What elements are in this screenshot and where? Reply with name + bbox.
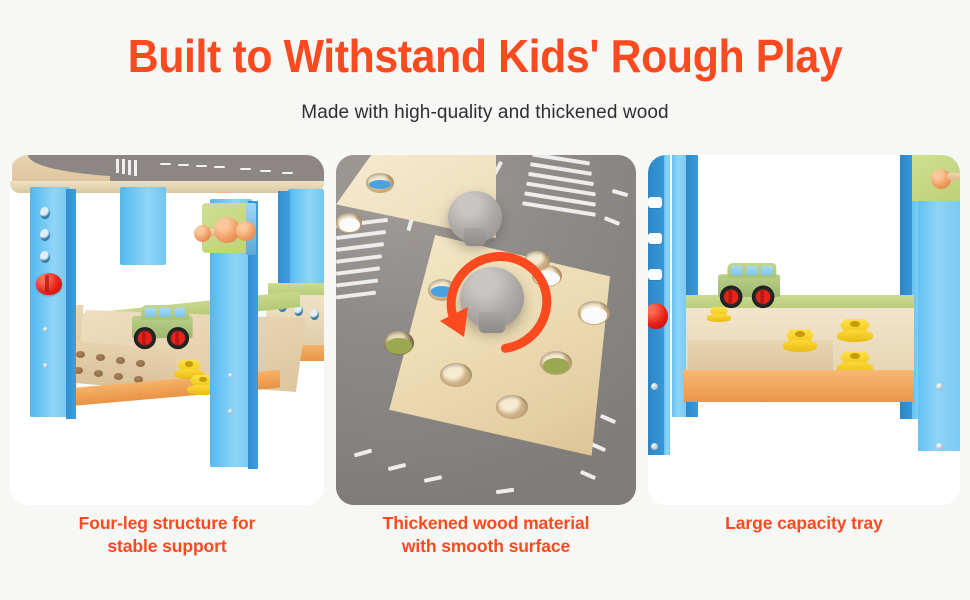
van-window: [731, 266, 742, 275]
feature-caption-row: Four-leg structure for stable support Th…: [10, 512, 960, 582]
van-window: [174, 308, 185, 317]
nut-hole: [795, 331, 805, 338]
wood-hole: [384, 331, 414, 355]
wood-hole: [578, 301, 610, 325]
toy-nut-yellow: [840, 319, 870, 341]
pegboard-hole: [136, 360, 145, 367]
van-window: [746, 266, 757, 275]
caption-thickened-wood: Thickened wood material with smooth surf…: [336, 512, 636, 582]
leg-adjust-hole: [648, 269, 662, 280]
crosswalk-stripe: [128, 160, 131, 175]
workbench-leg-front-left-side: [66, 189, 76, 419]
workbench-leg-rear: [120, 187, 166, 265]
wood-hole: [440, 363, 472, 387]
workbench-four-leg-photo: [10, 155, 324, 505]
wood-hole: [496, 395, 528, 419]
caption-line-1: Four-leg structure for: [10, 512, 324, 535]
van-window: [145, 308, 156, 317]
vise-knob-ball-left: [194, 225, 211, 242]
van-wheel: [752, 286, 775, 309]
panel-large-tray: [648, 155, 960, 505]
caption-line-2: with smooth surface: [336, 535, 636, 558]
pegboard-hole: [94, 370, 103, 377]
pegboard-hole: [730, 345, 740, 352]
thickened-wood-photo: [336, 155, 636, 505]
large-tray-photo: [648, 155, 960, 505]
feature-panel-row: [10, 155, 960, 505]
leg-adjust-hole: [310, 309, 319, 320]
road-dash: [240, 168, 251, 170]
vise-knob-ball-right: [236, 221, 256, 241]
pegboard-hole: [96, 354, 105, 361]
caption-line-1: Thickened wood material: [336, 512, 636, 535]
caption-large-tray: Large capacity tray: [648, 512, 960, 582]
leg-screw: [228, 373, 233, 378]
pegboard-hole: [76, 351, 85, 358]
toy-nut-yellow: [710, 307, 728, 321]
leg-screw: [43, 363, 48, 368]
road-dash: [282, 172, 293, 174]
page-title: Built to Withstand Kids' Rough Play: [34, 31, 936, 81]
pegboard-hole: [796, 361, 806, 368]
red-adjust-knob: [36, 273, 62, 295]
van-wheel: [720, 286, 743, 309]
caption-line-1: Large capacity tray: [648, 512, 960, 535]
pegboard-hole: [762, 361, 772, 368]
nut-hole: [185, 361, 193, 366]
pegboard-hole: [696, 345, 706, 352]
rotate-arrow-icon: [428, 233, 576, 365]
page-subtitle: Made with high-quality and thickened woo…: [0, 100, 970, 126]
road-dash: [196, 165, 207, 167]
leg-screw: [651, 383, 658, 390]
road-dash: [260, 170, 271, 172]
van-window: [160, 308, 171, 317]
tray-front-lip: [684, 370, 914, 402]
crosswalk-stripe: [134, 160, 137, 176]
wood-hole: [336, 213, 362, 233]
caption-four-leg: Four-leg structure for stable support: [10, 512, 324, 582]
nut-base: [783, 340, 817, 351]
toy-nut-yellow: [786, 329, 814, 351]
leg-adjust-hole: [40, 207, 50, 219]
road-dash: [214, 166, 225, 168]
crosswalk-stripe: [116, 159, 119, 173]
tray-leg-far-left-face: [664, 155, 670, 455]
leg-screw: [936, 443, 943, 450]
road-dash: [178, 164, 189, 166]
vise-knob-rod: [947, 173, 960, 180]
wood-hole: [366, 173, 394, 193]
leg-adjust-hole: [40, 251, 50, 263]
leg-screw: [43, 327, 48, 332]
pegboard-hole: [694, 361, 704, 368]
pegboard-hole: [764, 345, 774, 352]
panel-thickened-wood: [336, 155, 636, 505]
leg-adjust-hole: [40, 229, 50, 241]
caption-line-2: stable support: [10, 535, 324, 558]
product-feature-banner: Built to Withstand Kids' Rough Play Made…: [0, 0, 970, 600]
leg-screw: [651, 443, 658, 450]
pegboard-hole: [114, 373, 123, 380]
tabletop-road-print-right: [110, 155, 324, 183]
leg-screw: [228, 409, 233, 414]
leg-adjust-hole: [648, 233, 662, 244]
van-window: [761, 266, 772, 275]
workbench-leg-front-left: [30, 187, 70, 417]
nut-base: [837, 330, 873, 341]
pegboard-hole: [728, 361, 738, 368]
nut-base: [707, 314, 731, 321]
leg-screw: [936, 383, 943, 390]
van-wheel: [134, 327, 156, 349]
pegboard-hole: [116, 357, 125, 364]
van-wheel: [167, 327, 189, 349]
crosswalk-stripe: [122, 159, 125, 174]
panel-four-leg: [10, 155, 324, 505]
road-dash: [160, 163, 171, 165]
leg-adjust-hole: [648, 197, 662, 208]
